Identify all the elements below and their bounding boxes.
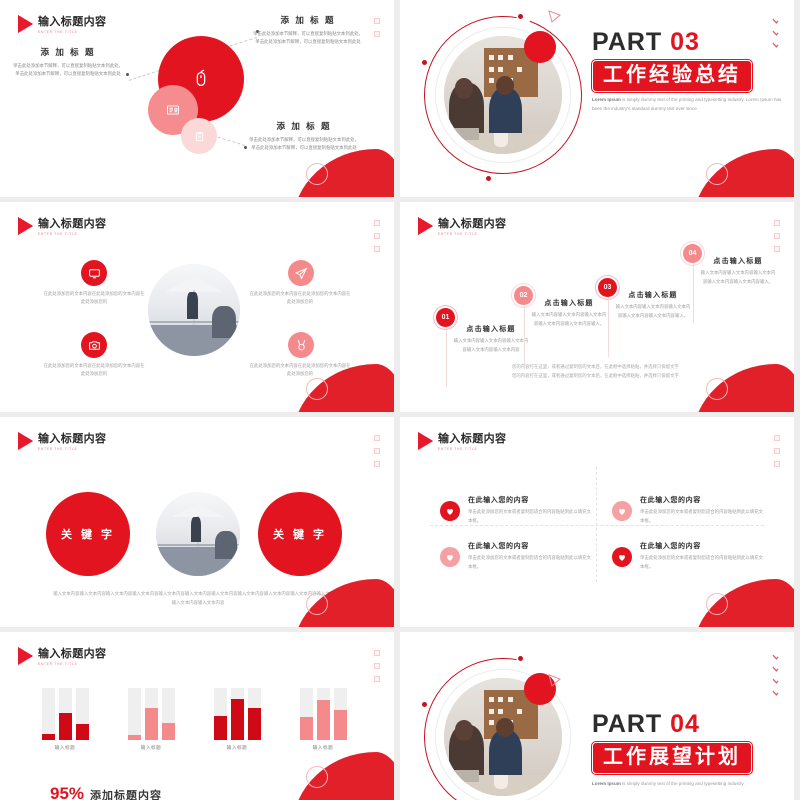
part-label: PART 03 bbox=[592, 28, 700, 57]
decoration-chevrons bbox=[771, 654, 780, 695]
heart-hand-icon bbox=[445, 506, 455, 516]
heart-hand-icon bbox=[617, 506, 627, 516]
connector-line bbox=[129, 70, 160, 81]
bar-column bbox=[145, 688, 158, 740]
step-body: 输入文本内容输入文本内容输入文本内容输入文本内容输入文本内容输入。 bbox=[614, 303, 692, 320]
block-title: 添 加 标 题 bbox=[252, 14, 364, 26]
quadrant-icon bbox=[612, 547, 632, 567]
quadrant-body: 单击此处添加您的文本或者复制您适合的内容粘贴到此以填充文本框。 bbox=[640, 554, 766, 571]
part-description: Lorem Ipsum is simply dummy text of the … bbox=[592, 780, 792, 789]
bar-chart: 输入标题输入标题输入标题输入标题 bbox=[34, 688, 354, 751]
decoration-squares bbox=[374, 220, 380, 252]
slide-row-4: 输入标题内容 ENTER THE TITLE 输入标题输入标题输入标题输入标题 … bbox=[0, 632, 800, 800]
play-triangle-icon bbox=[18, 647, 33, 665]
decor-square-icon bbox=[374, 246, 380, 252]
play-triangle-icon bbox=[18, 15, 33, 33]
slide-header: 输入标题内容 ENTER THE TITLE bbox=[418, 430, 506, 451]
chevron-down-icon bbox=[771, 654, 780, 659]
slide-title: 输入标题内容 bbox=[438, 430, 506, 446]
bar-fill bbox=[248, 708, 261, 740]
corner-ring bbox=[306, 378, 328, 400]
bar-columns bbox=[34, 688, 96, 740]
chevron-down-icon bbox=[771, 30, 780, 35]
slide-row-2: 输入标题内容 ENTER THE TITLE 在此处添加您的文本内容在此处添加您… bbox=[0, 202, 800, 412]
medal-icon bbox=[295, 339, 308, 352]
accent-dot bbox=[524, 31, 556, 63]
bubble-text-block: 添 加 标 题 单击此处添加本节解释，可以直接复制粘贴文本到此处，单击此处添加本… bbox=[248, 120, 360, 152]
step-title: 点击输入标题 bbox=[530, 298, 608, 308]
step-title: 点击输入标题 bbox=[699, 256, 777, 266]
mouse-icon bbox=[190, 68, 212, 90]
connector-line bbox=[213, 135, 246, 146]
quadrant-body: 单击此处添加您的文本或者复制您适合的内容粘贴到此以填充文本框。 bbox=[640, 508, 766, 525]
bar-fill bbox=[59, 713, 72, 740]
bar-columns bbox=[120, 688, 182, 740]
block-body: 单击此处添加本节解释，可以直接复制粘贴文本到此处，单击此处添加本节解释，可以直接… bbox=[248, 136, 360, 152]
slide-thumbnail-keywords[interactable]: 输入标题内容 ENTER THE TITLE 关 键 字 关 键 字 输入文本内… bbox=[0, 417, 394, 627]
connector-dot bbox=[244, 146, 247, 149]
feature-icon-3[interactable] bbox=[81, 332, 107, 358]
slide-subtitle: ENTER THE TITLE bbox=[38, 30, 106, 34]
slide-thumbnail-part03[interactable]: PART 03 工作经验总结 Lorem Ipsum is simply dum… bbox=[400, 0, 794, 197]
decor-square-icon bbox=[374, 18, 380, 24]
decor-square-icon bbox=[374, 676, 380, 682]
step-title: 点击输入标题 bbox=[452, 324, 530, 334]
decoration-squares bbox=[374, 18, 380, 37]
bar-column bbox=[248, 688, 261, 740]
feature-icon-4[interactable] bbox=[288, 332, 314, 358]
step-text-04: 点击输入标题 输入文本内容输入文本内容输入文本内容输入文本内容输入文本内容输入。 bbox=[699, 256, 777, 286]
decor-square-icon bbox=[374, 220, 380, 226]
bar-column bbox=[59, 688, 72, 740]
bar-column bbox=[300, 688, 313, 740]
bar-fill bbox=[76, 724, 89, 740]
decoration-chevrons bbox=[771, 18, 780, 47]
block-body: 单击此处添加本节解释，可以直接复制粘贴文本到此处，单击此处添加本节解释，可以直接… bbox=[252, 30, 364, 46]
bar-column bbox=[317, 688, 330, 740]
play-triangle-icon bbox=[418, 217, 433, 235]
arc-dot bbox=[518, 656, 523, 661]
slide-row-3: 输入标题内容 ENTER THE TITLE 关 键 字 关 键 字 输入文本内… bbox=[0, 417, 800, 627]
quadrant-body: 单击此处添加您的文本或者复制您适合的内容粘贴到此以填充文本框。 bbox=[468, 554, 594, 571]
play-triangle-icon bbox=[18, 217, 33, 235]
block-body: 单击此处添加本节解释，可以直接复制粘贴文本到此处，单击此处添加本节解释，可以直接… bbox=[12, 62, 124, 78]
decor-square-icon bbox=[774, 233, 780, 239]
bar-column bbox=[214, 688, 227, 740]
part-label: PART 04 bbox=[592, 710, 700, 739]
steps-footer-text: 您的内容打在这里，或者通过复制您的文本后，在此框中选择粘贴，并选择只保留文字您的… bbox=[512, 362, 680, 381]
decoration-squares bbox=[774, 435, 780, 467]
decor-square-icon bbox=[374, 461, 380, 467]
decor-square-icon bbox=[774, 246, 780, 252]
feature-icon-1[interactable] bbox=[81, 260, 107, 286]
block-title: 添 加 标 题 bbox=[12, 46, 124, 58]
quadrant-item-1[interactable]: 在此输入您的内容 单击此处添加您的文本或者复制您适合的内容粘贴到此以填充文本框。 bbox=[440, 495, 600, 525]
bubble-text-block: 添 加 标 题 单击此处添加本节解释，可以直接复制粘贴文本到此处，单击此处添加本… bbox=[12, 46, 124, 78]
quadrant-icon bbox=[440, 547, 460, 567]
keyword-circle-right[interactable]: 关 键 字 bbox=[258, 492, 342, 576]
chevron-down-icon bbox=[771, 18, 780, 23]
heart-hand-icon bbox=[617, 552, 627, 562]
triangle-outline-icon bbox=[548, 674, 562, 693]
corner-ring bbox=[706, 593, 728, 615]
step-text-02: 点击输入标题 输入文本内容输入文本内容输入文本内容输入文本内容输入文本内容输入。 bbox=[530, 298, 608, 328]
bar-column bbox=[76, 688, 89, 740]
bar-column bbox=[162, 688, 175, 740]
chevron-down-icon bbox=[771, 666, 780, 671]
step-body: 输入文本内容输入文本内容输入文本内容输入文本内容输入文本内容输入。 bbox=[699, 269, 777, 286]
decoration-squares bbox=[374, 435, 380, 467]
slide-header: 输入标题内容 ENTER THE TITLE bbox=[418, 215, 506, 236]
keywords-footer-text: 输入文本内容输入文本内容输入文本内容输入文本内容输入文本内容输入文本内容输入文本… bbox=[52, 589, 344, 608]
heart-hand-icon bbox=[445, 552, 455, 562]
bar-fill bbox=[128, 735, 141, 740]
slide-thumbnail-bubbles[interactable]: 输入标题内容 ENTER THE TITLE bbox=[0, 0, 394, 197]
step-body: 输入文本内容输入文本内容输入文本内容输入文本内容输入文本内容 bbox=[452, 337, 530, 354]
bar-group: 输入标题 bbox=[34, 688, 96, 751]
slide-header: 输入标题内容 ENTER THE TITLE bbox=[18, 215, 106, 236]
quadrant-title: 在此输入您的内容 bbox=[468, 495, 600, 505]
quadrant-body: 单击此处添加您的文本或者复制您适合的内容粘贴到此以填充文本框。 bbox=[468, 508, 594, 525]
bubble-small[interactable] bbox=[181, 118, 217, 154]
decor-square-icon bbox=[774, 220, 780, 226]
stat-label: 添加标题内容 bbox=[90, 787, 162, 800]
arc-dot bbox=[422, 702, 427, 707]
decor-square-icon bbox=[374, 448, 380, 454]
bar-category-label: 输入标题 bbox=[206, 745, 268, 751]
step-text-03: 点击输入标题 输入文本内容输入文本内容输入文本内容输入文本内容输入文本内容输入。 bbox=[614, 290, 692, 320]
bar-fill bbox=[162, 723, 175, 740]
bubble-text-block: 添 加 标 题 单击此处添加本节解释，可以直接复制粘贴文本到此处，单击此处添加本… bbox=[252, 14, 364, 46]
bar-fill bbox=[300, 717, 313, 740]
bar-column bbox=[42, 688, 55, 740]
arc-dot bbox=[486, 176, 491, 181]
chevron-down-icon bbox=[771, 678, 780, 683]
bar-group: 输入标题 bbox=[206, 688, 268, 751]
decor-square-icon bbox=[774, 461, 780, 467]
center-photo bbox=[148, 264, 240, 356]
step-body: 输入文本内容输入文本内容输入文本内容输入文本内容输入文本内容输入。 bbox=[530, 311, 608, 328]
quadrant-title: 在此输入您的内容 bbox=[468, 541, 600, 551]
bar-track bbox=[42, 688, 55, 740]
decor-square-icon bbox=[374, 663, 380, 669]
quadrant-icon bbox=[612, 501, 632, 521]
paper-plane-icon bbox=[295, 267, 308, 280]
decor-square-icon bbox=[374, 435, 380, 441]
decor-square-icon bbox=[774, 448, 780, 454]
slide-header: 输入标题内容 ENTER THE TITLE bbox=[18, 645, 106, 666]
block-title: 添 加 标 题 bbox=[248, 120, 360, 132]
bar-columns bbox=[292, 688, 354, 740]
slide-subtitle: ENTER THE TITLE bbox=[38, 662, 106, 666]
step-title: 点击输入标题 bbox=[614, 290, 692, 300]
part-banner: 工作经验总结 bbox=[592, 60, 752, 92]
quadrant-item-4[interactable]: 在此输入您的内容 单击此处添加您的文本或者复制您适合的内容粘贴到此以填充文本框。 bbox=[612, 541, 772, 571]
corner-ring bbox=[306, 163, 328, 185]
chevron-down-icon bbox=[771, 42, 780, 47]
bar-fill bbox=[231, 699, 244, 740]
decor-square-icon bbox=[374, 233, 380, 239]
slide-subtitle: ENTER THE TITLE bbox=[438, 447, 506, 451]
feature-icon-2[interactable] bbox=[288, 260, 314, 286]
triangle-outline-icon bbox=[548, 10, 562, 29]
part-description: Lorem Ipsum is simply dummy text of the … bbox=[592, 96, 792, 113]
bar-category-label: 输入标题 bbox=[34, 745, 96, 751]
bar-column bbox=[128, 688, 141, 740]
stat-percent: 95% bbox=[50, 784, 84, 800]
bar-category-label: 输入标题 bbox=[292, 745, 354, 751]
bar-column bbox=[231, 688, 244, 740]
bar-fill bbox=[317, 700, 330, 740]
center-photo bbox=[156, 492, 240, 576]
quadrant-item-2[interactable]: 在此输入您的内容 单击此处添加您的文本或者复制您适合的内容粘贴到此以填充文本框。 bbox=[612, 495, 772, 525]
quadrant-icon bbox=[440, 501, 460, 521]
slide-title: 输入标题内容 bbox=[438, 215, 506, 231]
bar-group: 输入标题 bbox=[292, 688, 354, 751]
corner-ring bbox=[306, 593, 328, 615]
slide-subtitle: ENTER THE TITLE bbox=[438, 232, 506, 236]
decor-square-icon bbox=[774, 435, 780, 441]
slide-title: 输入标题内容 bbox=[38, 215, 106, 231]
decoration-squares bbox=[774, 220, 780, 252]
part-banner: 工作展望计划 bbox=[592, 742, 752, 774]
corner-ring bbox=[306, 766, 328, 788]
slide-thumbnail-part04[interactable]: PART 04 工作展望计划 Lorem Ipsum is simply dum… bbox=[400, 632, 794, 800]
bar-column bbox=[334, 688, 347, 740]
clipboard-icon bbox=[194, 131, 205, 142]
decor-square-icon bbox=[374, 31, 380, 37]
bar-track bbox=[128, 688, 141, 740]
monitor-icon bbox=[88, 267, 101, 280]
feature-caption-2: 在此处添加您的文本内容在此处添加您的文本内容在此处添加您的 bbox=[248, 290, 352, 307]
chevron-down-icon bbox=[771, 690, 780, 695]
id-card-icon bbox=[166, 103, 180, 117]
feature-caption-3: 在此处添加您的文本内容在此处添加您的文本内容在此处添加您的 bbox=[42, 362, 146, 379]
slide-thumbnail-steps[interactable]: 输入标题内容 ENTER THE TITLE 01 点击输入标题 输入文本内容输… bbox=[400, 202, 794, 412]
bar-fill bbox=[42, 734, 55, 740]
slide-title: 输入标题内容 bbox=[38, 645, 106, 661]
slide-title: 输入标题内容 bbox=[38, 13, 106, 29]
decor-square-icon bbox=[374, 650, 380, 656]
bar-fill bbox=[334, 710, 347, 740]
slide-thumbnail-bars[interactable]: 输入标题内容 ENTER THE TITLE 输入标题输入标题输入标题输入标题 … bbox=[0, 632, 394, 800]
feature-caption-1: 在此处添加您的文本内容在此处添加您的文本内容在此处添加您的 bbox=[42, 290, 146, 307]
bar-fill bbox=[214, 716, 227, 740]
quadrant-item-3[interactable]: 在此输入您的内容 单击此处添加您的文本或者复制您适合的内容粘贴到此以填充文本框。 bbox=[440, 541, 600, 571]
slide-thumbnail-four-icons[interactable]: 输入标题内容 ENTER THE TITLE 在此处添加您的文本内容在此处添加您… bbox=[0, 202, 394, 412]
quadrant-title: 在此输入您的内容 bbox=[640, 541, 772, 551]
slide-subtitle: ENTER THE TITLE bbox=[38, 447, 106, 451]
keyword-circle-left[interactable]: 关 键 字 bbox=[46, 492, 130, 576]
arc-dot bbox=[422, 60, 427, 65]
bar-group: 输入标题 bbox=[120, 688, 182, 751]
decoration-squares bbox=[374, 650, 380, 682]
stat-highlight: 95% 添加标题内容 bbox=[50, 784, 162, 800]
slide-thumbnail-quadrants[interactable]: 输入标题内容 ENTER THE TITLE 在此输入您的内容 单击此处添加您的… bbox=[400, 417, 794, 627]
slide-header: 输入标题内容 ENTER THE TITLE bbox=[18, 430, 106, 451]
connector-dot bbox=[126, 73, 129, 76]
slide-subtitle: ENTER THE TITLE bbox=[38, 232, 106, 236]
bar-fill bbox=[145, 708, 158, 740]
corner-ring bbox=[706, 378, 728, 400]
play-triangle-icon bbox=[418, 432, 433, 450]
slide-title: 输入标题内容 bbox=[38, 430, 106, 446]
quadrant-title: 在此输入您的内容 bbox=[640, 495, 772, 505]
slide-header: 输入标题内容 ENTER THE TITLE bbox=[18, 13, 106, 34]
corner-ring bbox=[706, 163, 728, 185]
camera-icon bbox=[88, 339, 101, 352]
slide-preview-sheet: 输入标题内容 ENTER THE TITLE bbox=[0, 0, 800, 800]
play-triangle-icon bbox=[18, 432, 33, 450]
bar-category-label: 输入标题 bbox=[120, 745, 182, 751]
slide-row-1: 输入标题内容 ENTER THE TITLE bbox=[0, 0, 800, 197]
step-text-01: 点击输入标题 输入文本内容输入文本内容输入文本内容输入文本内容输入文本内容 bbox=[452, 324, 530, 354]
bar-columns bbox=[206, 688, 268, 740]
